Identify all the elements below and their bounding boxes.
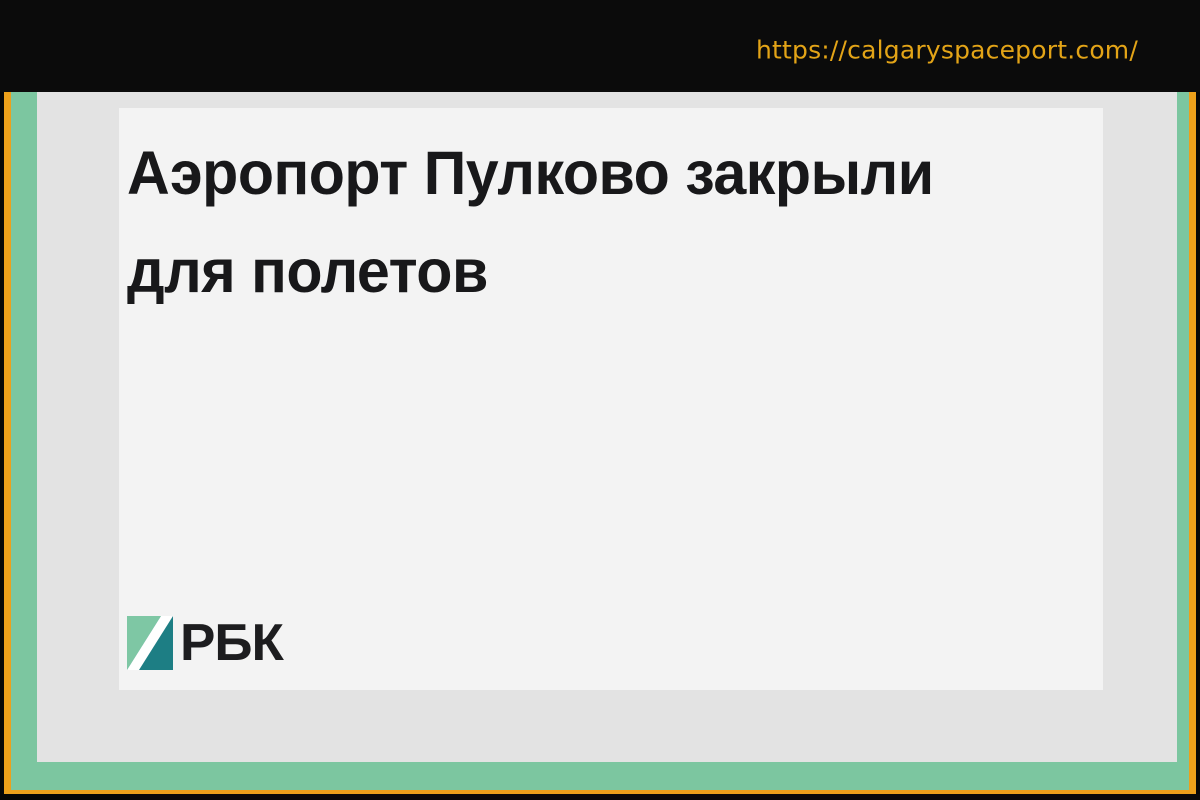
rbc-logo[interactable]: РБК (127, 616, 281, 670)
page-background: Аэропорт Пулково закрыли для полетов РБК (37, 92, 1177, 762)
bottom-black-strip (0, 794, 1200, 800)
screenshot-root: https://calgaryspaceport.com/ Аэропорт П… (0, 0, 1200, 800)
amber-border-frame: Аэропорт Пулково закрыли для полетов РБК (4, 92, 1196, 794)
browser-address-bar: https://calgaryspaceport.com/ (0, 0, 1200, 92)
rbc-logo-text: РБК (180, 616, 283, 670)
bottom-strip-notch (130, 794, 1200, 800)
article-card: Аэропорт Пулково закрыли для полетов РБК (119, 108, 1103, 690)
green-border-band: Аэропорт Пулково закрыли для полетов РБК (11, 92, 1189, 790)
rbc-logo-icon (127, 616, 173, 670)
page-url[interactable]: https://calgaryspaceport.com/ (756, 36, 1138, 65)
article-headline: Аэропорт Пулково закрыли для полетов (127, 124, 1029, 320)
